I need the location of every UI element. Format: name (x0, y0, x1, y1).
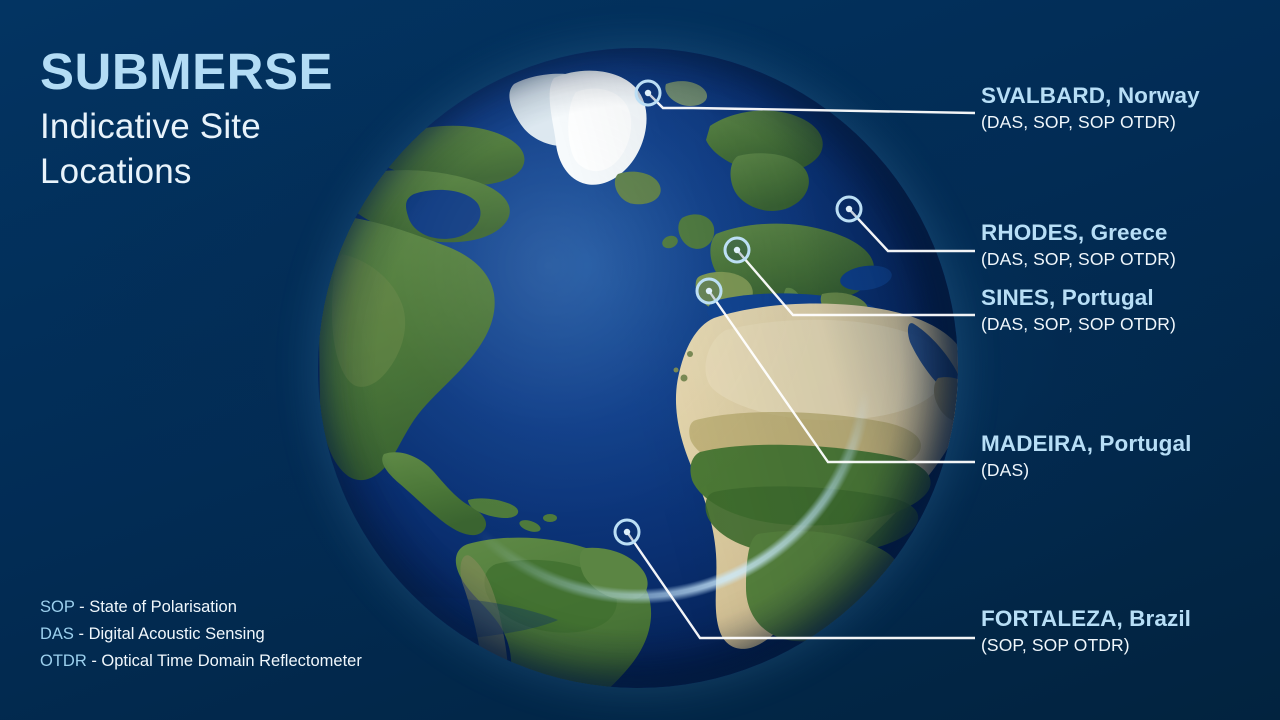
site-technologies: (DAS, SOP, SOP OTDR) (981, 249, 1176, 270)
glossary-definition: - State of Polarisation (75, 598, 237, 616)
glossary-definition: - Optical Time Domain Reflectometer (87, 652, 362, 670)
glossary-abbreviation: SOP (40, 598, 75, 616)
site-label-svalbard: SVALBARD, Norway(DAS, SOP, SOP OTDR) (981, 84, 1200, 133)
glossary-item-das: DAS - Digital Acoustic Sensing (40, 621, 380, 648)
site-name: FORTALEZA, Brazil (981, 607, 1191, 631)
site-name: MADEIRA, Portugal (981, 432, 1191, 456)
site-name: RHODES, Greece (981, 221, 1176, 245)
glossary-item-otdr: OTDR - Optical Time Domain Reflectometer (40, 648, 380, 675)
site-name: SINES, Portugal (981, 286, 1176, 310)
site-name: SVALBARD, Norway (981, 84, 1200, 108)
glossary-definition: - Digital Acoustic Sensing (74, 625, 265, 643)
glossary-abbreviation: DAS (40, 625, 74, 643)
site-technologies: (DAS, SOP, SOP OTDR) (981, 314, 1176, 335)
glossary: SOP - State of PolarisationDAS - Digital… (40, 594, 380, 675)
slide-root: SUBMERSE Indicative Site Locations SVALB… (0, 0, 1280, 720)
site-label-sines: SINES, Portugal(DAS, SOP, SOP OTDR) (981, 286, 1176, 335)
site-technologies: (DAS, SOP, SOP OTDR) (981, 112, 1200, 133)
site-label-madeira: MADEIRA, Portugal(DAS) (981, 432, 1191, 481)
site-label-rhodes: RHODES, Greece(DAS, SOP, SOP OTDR) (981, 221, 1176, 270)
site-technologies: (DAS) (981, 460, 1191, 481)
site-label-fortaleza: FORTALEZA, Brazil(SOP, SOP OTDR) (981, 607, 1191, 656)
glossary-item-sop: SOP - State of Polarisation (40, 594, 380, 621)
site-technologies: (SOP, SOP OTDR) (981, 635, 1191, 656)
glossary-abbreviation: OTDR (40, 652, 87, 670)
